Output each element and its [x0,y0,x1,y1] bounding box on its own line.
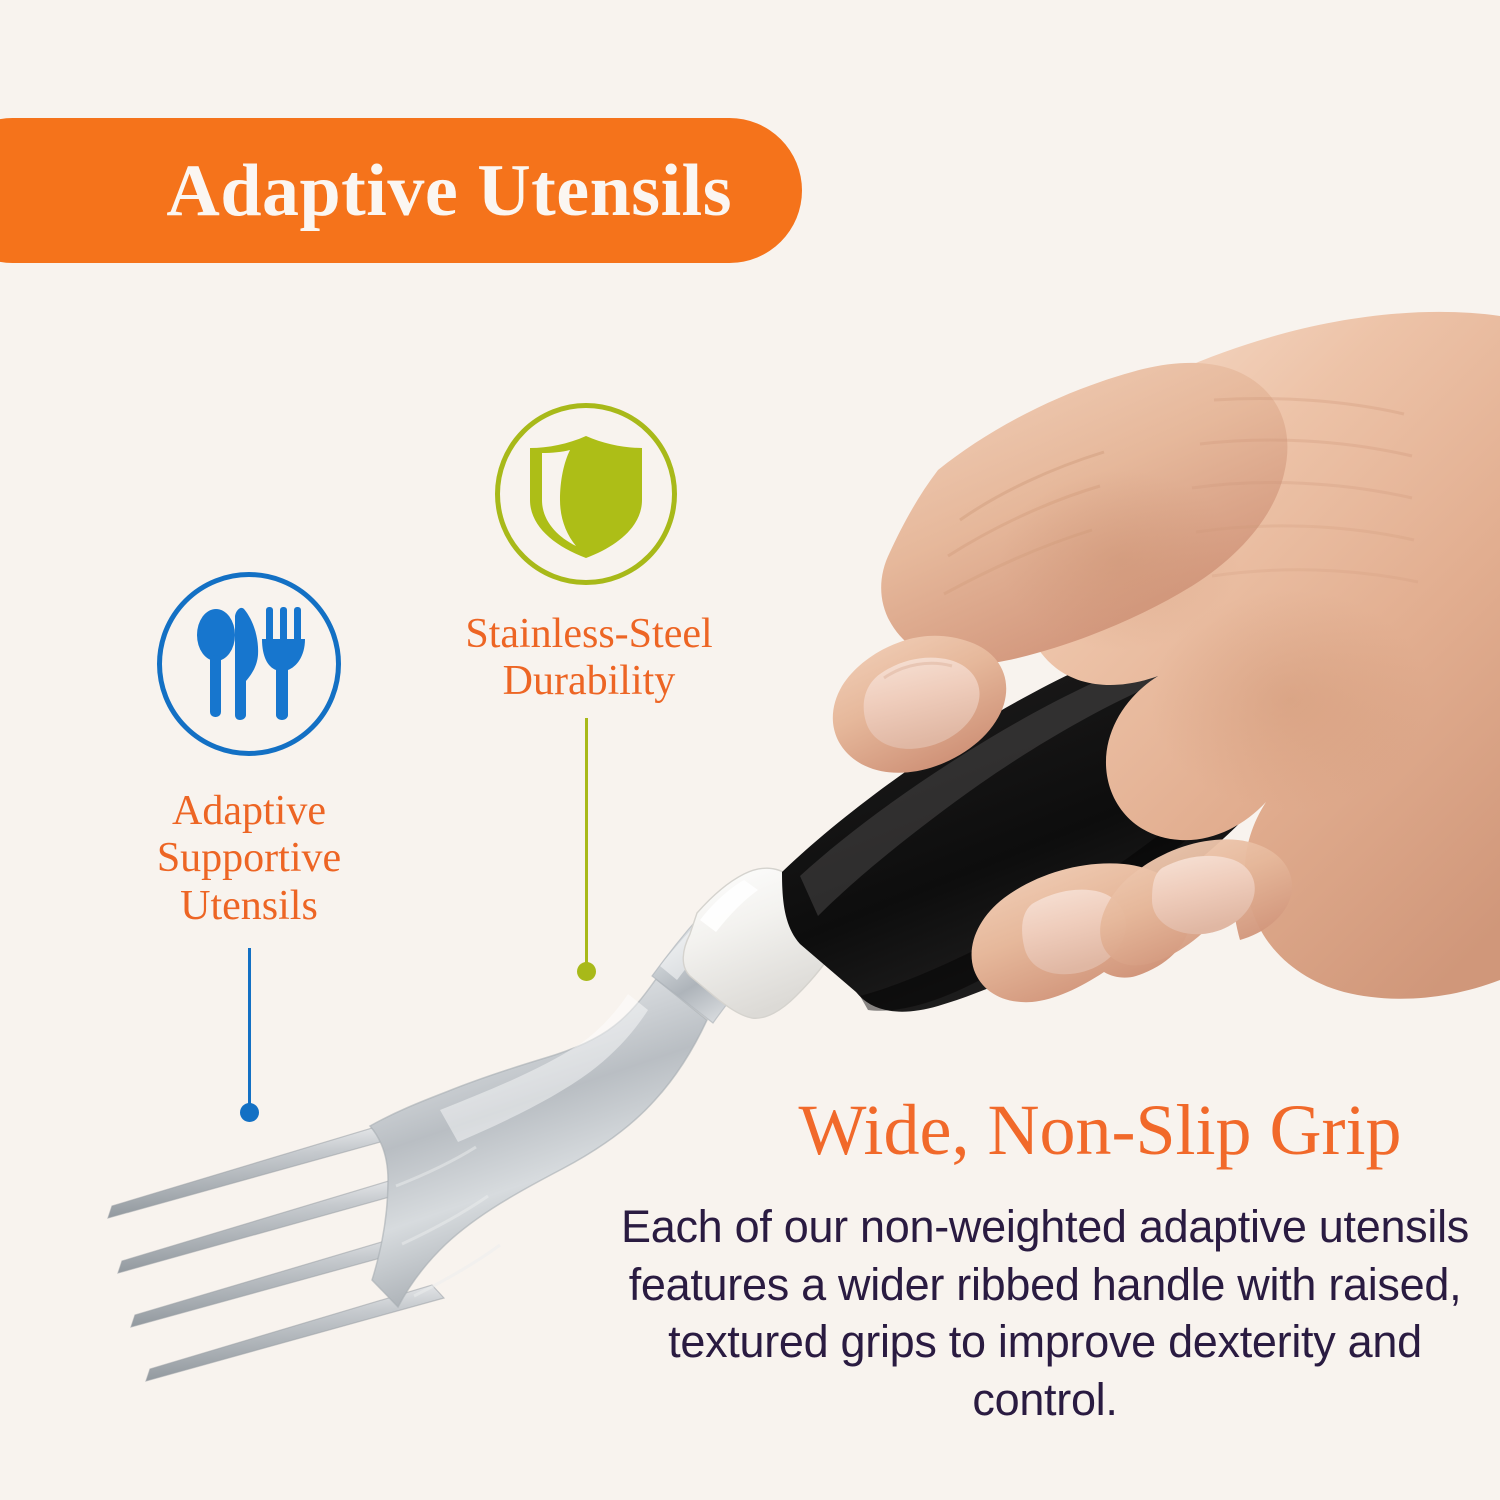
caption-line: Utensils [99,883,399,930]
infographic-canvas: Adaptive Utensils Adaptive Supportive Ut… [0,0,1500,1500]
shield-icon-circle [495,403,677,585]
caption-line: Stainless-Steel [404,611,774,658]
badge-label: Adaptive Utensils [166,154,732,228]
callout-heading: Wide, Non-Slip Grip [715,1094,1485,1166]
callout-body: Each of our non-weighted adaptive utensi… [600,1198,1490,1428]
connector-dot-shield [577,962,596,981]
connector-dot-utensils [240,1103,259,1122]
hand [833,312,1500,1002]
utensils-icon [162,577,336,751]
caption-line: Adaptive [99,788,399,835]
caption-adaptive-supportive-utensils: Adaptive Supportive Utensils [99,788,399,930]
connector-line-utensils [248,948,251,1112]
black-ribbed-handle [782,614,1325,1012]
shield-icon [500,408,672,580]
caption-stainless-steel-durability: Stainless-Steel Durability [404,611,774,706]
fork-neck [652,914,760,1023]
connector-line-shield [585,718,588,970]
caption-line: Durability [404,658,774,705]
white-ferrule [683,868,839,1018]
adaptive-utensils-badge: Adaptive Utensils [0,118,802,263]
caption-line: Supportive [99,835,399,882]
fork-tines [108,1128,444,1381]
utensils-icon-circle [157,572,341,756]
